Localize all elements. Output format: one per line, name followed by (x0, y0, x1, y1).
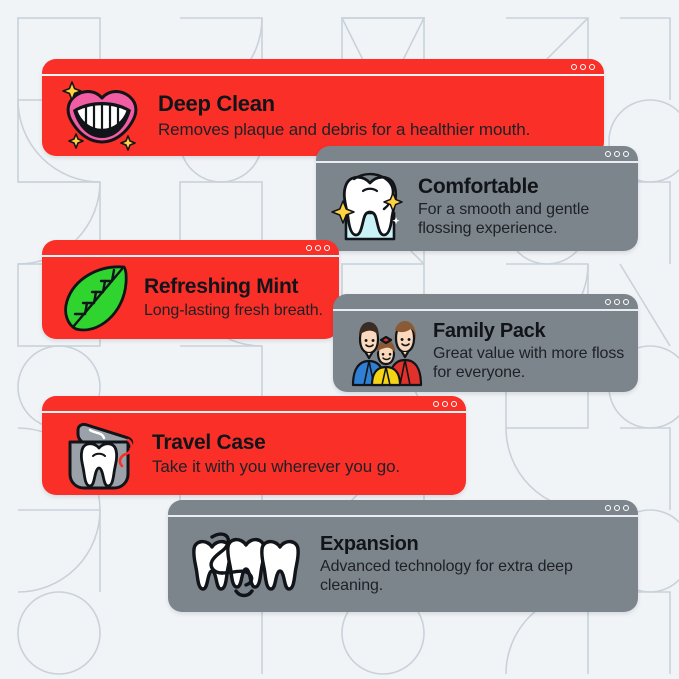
card-title: Expansion (320, 533, 628, 555)
window-dot-icon[interactable] (614, 299, 620, 305)
feature-card-list: Deep Clean Removes plaque and debris for… (0, 0, 679, 679)
card-body: Deep Clean Removes plaque and debris for… (42, 76, 604, 156)
window-dot-icon[interactable] (324, 245, 330, 251)
card-titlebar (316, 146, 638, 163)
card-titlebar (42, 59, 604, 76)
card-body: Expansion Advanced technology for extra … (168, 517, 638, 612)
window-dot-icon[interactable] (571, 64, 577, 70)
window-dot-icon[interactable] (433, 401, 439, 407)
window-dot-icon[interactable] (315, 245, 321, 251)
window-dots[interactable] (605, 505, 629, 511)
feature-card-refreshing-mint[interactable]: Refreshing Mint Long-lasting fresh breat… (42, 240, 339, 339)
window-dot-icon[interactable] (623, 505, 629, 511)
card-text: Comfortable For a smooth and gentle flos… (418, 175, 638, 239)
card-text: Refreshing Mint Long-lasting fresh breat… (144, 275, 339, 320)
window-dots[interactable] (433, 401, 457, 407)
card-text: Family Pack Great value with more floss … (433, 320, 638, 383)
card-description: Advanced technology for extra deep clean… (320, 558, 628, 596)
card-title: Comfortable (418, 175, 628, 199)
card-body: Family Pack Great value with more floss … (333, 311, 638, 392)
card-titlebar (333, 294, 638, 311)
window-dot-icon[interactable] (451, 401, 457, 407)
sparkling-tooth-icon (330, 169, 410, 245)
card-description: Great value with more floss for everyone… (433, 345, 628, 383)
window-dot-icon[interactable] (614, 505, 620, 511)
window-dots[interactable] (571, 64, 595, 70)
window-dot-icon[interactable] (623, 151, 629, 157)
smiling-mouth-icon (56, 80, 148, 152)
window-dot-icon[interactable] (442, 401, 448, 407)
mint-leaf-icon (54, 261, 138, 335)
feature-card-family-pack[interactable]: Family Pack Great value with more floss … (333, 294, 638, 392)
feature-card-comfortable[interactable]: Comfortable For a smooth and gentle flos… (316, 146, 638, 251)
card-body: Travel Case Take it with you wherever yo… (42, 413, 466, 495)
feature-card-deep-clean[interactable]: Deep Clean Removes plaque and debris for… (42, 59, 604, 156)
window-dot-icon[interactable] (623, 299, 629, 305)
family-icon (345, 317, 425, 387)
window-dot-icon[interactable] (589, 64, 595, 70)
card-title: Deep Clean (158, 92, 594, 117)
card-text: Travel Case Take it with you wherever yo… (152, 431, 466, 478)
window-dot-icon[interactable] (605, 505, 611, 511)
card-description: For a smooth and gentle flossing experie… (418, 201, 628, 239)
card-text: Deep Clean Removes plaque and debris for… (158, 92, 604, 140)
window-dots[interactable] (605, 151, 629, 157)
three-teeth-floss-icon (190, 529, 302, 601)
card-description: Take it with you wherever you go. (152, 457, 456, 477)
window-dot-icon[interactable] (580, 64, 586, 70)
card-titlebar (42, 396, 466, 413)
card-body: Comfortable For a smooth and gentle flos… (316, 163, 638, 251)
card-body: Refreshing Mint Long-lasting fresh breat… (42, 257, 339, 339)
window-dot-icon[interactable] (605, 299, 611, 305)
card-titlebar (42, 240, 339, 257)
card-titlebar (168, 500, 638, 517)
window-dot-icon[interactable] (306, 245, 312, 251)
feature-card-travel-case[interactable]: Travel Case Take it with you wherever yo… (42, 396, 466, 495)
window-dot-icon[interactable] (605, 151, 611, 157)
card-title: Travel Case (152, 431, 456, 455)
card-text: Expansion Advanced technology for extra … (320, 533, 638, 596)
window-dot-icon[interactable] (614, 151, 620, 157)
feature-card-expansion[interactable]: Expansion Advanced technology for extra … (168, 500, 638, 612)
card-description: Long-lasting fresh breath. (144, 302, 329, 321)
card-title: Family Pack (433, 320, 628, 342)
card-title: Refreshing Mint (144, 275, 329, 299)
window-dots[interactable] (306, 245, 330, 251)
window-dots[interactable] (605, 299, 629, 305)
card-description: Removes plaque and debris for a healthie… (158, 120, 594, 140)
floss-case-icon (56, 416, 142, 492)
